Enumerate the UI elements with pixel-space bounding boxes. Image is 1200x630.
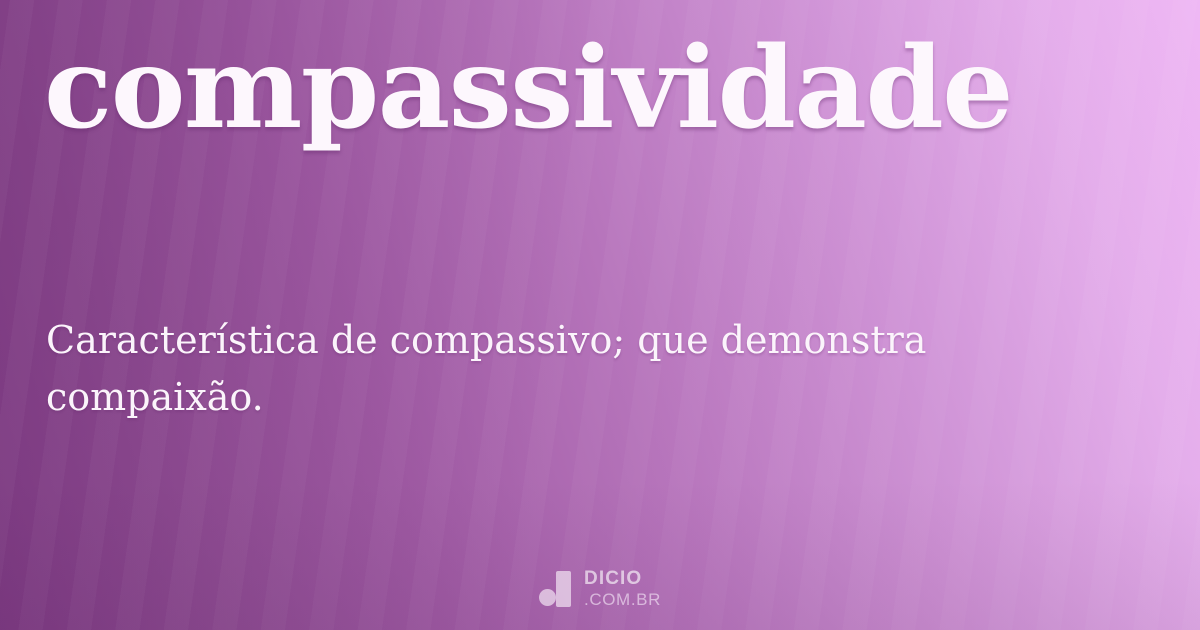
- word-definition-card: compassividade Característica de compass…: [0, 0, 1200, 630]
- dicio-logo-mark-icon: [539, 569, 573, 607]
- bar-icon: [556, 571, 571, 607]
- word-definition-text: Característica de compassivo; que demons…: [46, 312, 1116, 426]
- logo-brand-name: DICIO: [584, 569, 661, 588]
- dicio-logo: DICIO .COM.BR: [0, 564, 1200, 612]
- card-content: compassividade Característica de compass…: [0, 0, 1200, 630]
- dicio-logo-text: DICIO .COM.BR: [584, 569, 661, 608]
- circle-icon: [539, 589, 556, 606]
- word-title: compassividade: [44, 26, 1164, 151]
- logo-domain-suffix: .COM.BR: [584, 591, 661, 608]
